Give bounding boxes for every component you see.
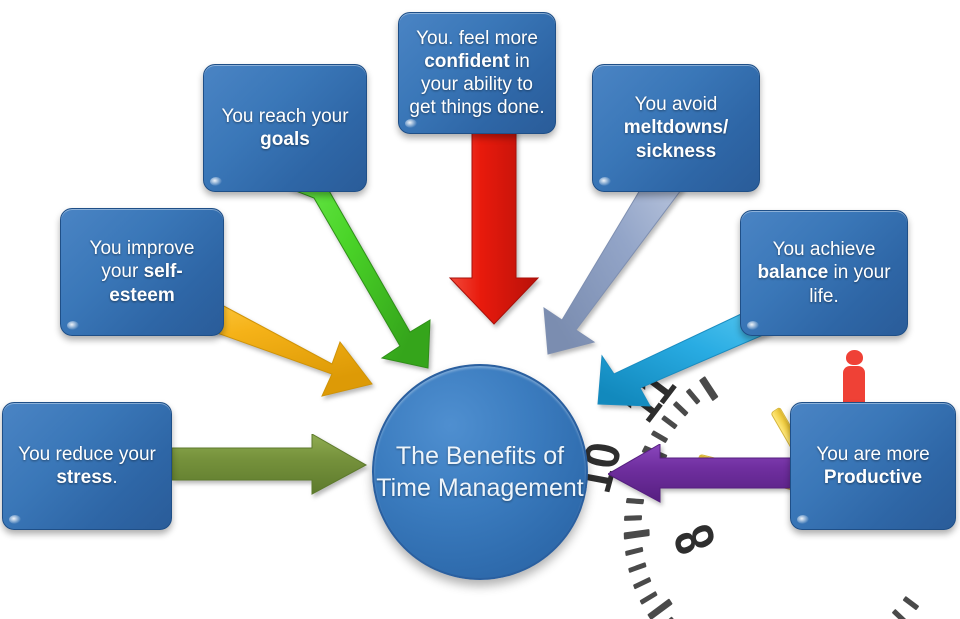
box-balance-line-3: life. (757, 285, 890, 308)
box-meltdowns-line-2: meltdowns/ (624, 116, 729, 139)
benefit-box-productive[interactable]: You are more Productive (790, 402, 956, 530)
figure-head (846, 350, 863, 365)
box-stress-line-2-rest: . (112, 467, 117, 488)
clock-tick-minor (903, 596, 920, 610)
box-balance-line-2-rest: in your (828, 262, 890, 283)
box-meltdowns-line-3: sickness (624, 140, 729, 163)
clock-tick-major (647, 598, 673, 619)
center-hub-circle[interactable]: The Benefits of Time Management (372, 364, 588, 580)
diagram-canvas: 10 11 8 (0, 0, 960, 619)
clock-tick-minor (651, 430, 669, 443)
box-stress-line-1: You reduce your (18, 443, 156, 466)
box-balance-line-2: balance in your (757, 261, 890, 284)
box-productive-line-2: Productive (816, 466, 929, 489)
box-meltdowns-line-1: You avoid (624, 93, 729, 116)
clock-tick-minor (628, 562, 647, 573)
benefit-box-confident[interactable]: You. feel more confident in your ability… (398, 12, 556, 134)
box-meltdowns-emphasis-1: meltdowns/ (624, 117, 729, 138)
box-productive-emphasis: Productive (824, 467, 922, 488)
box-self-esteem-line-2-pre: your (101, 261, 143, 282)
box-confident-line-4: get things done. (409, 96, 544, 119)
box-meltdowns-emphasis-2: sickness (636, 141, 716, 162)
box-self-esteem-line-1: You improve (71, 237, 213, 260)
clock-tick-minor (624, 515, 642, 521)
clock-tick-major (624, 529, 650, 540)
center-line-3: Management (438, 474, 584, 502)
clock-tick-minor (661, 415, 678, 429)
box-productive-line-1: You are more (816, 443, 929, 466)
box-self-esteem-line-2: your self-esteem (71, 260, 213, 306)
box-goals-line-2: goals (221, 128, 348, 151)
box-balance-line-1: You achieve (757, 238, 890, 261)
clock-tick-minor (892, 609, 908, 619)
center-line-1: The Benefits (396, 442, 536, 470)
clock-tick-minor (633, 577, 651, 590)
box-confident-line-1: You. feel more (409, 27, 544, 50)
box-stress-line-2: stress. (18, 466, 156, 489)
clock-tick-minor (625, 547, 643, 556)
box-confident-line-2: confident in (409, 50, 544, 73)
box-balance-emphasis: balance (757, 262, 828, 283)
box-confident-line-2-rest: in (510, 51, 530, 72)
benefit-box-stress[interactable]: You reduce your stress. (2, 402, 172, 530)
benefit-box-balance[interactable]: You achieve balance in your life. (740, 210, 908, 336)
box-confident-emphasis: confident (424, 51, 510, 72)
purple-arrow-productive (608, 444, 800, 504)
box-goals-line-1: You reach your (221, 105, 348, 128)
benefit-box-goals[interactable]: You reach your goals (203, 64, 367, 192)
clock-tick-minor (640, 591, 658, 605)
box-stress-emphasis: stress (56, 467, 112, 488)
box-goals-emphasis: goals (260, 129, 310, 150)
benefit-box-self-esteem[interactable]: You improve your self-esteem (60, 208, 224, 336)
olive-arrow-stress (172, 434, 368, 496)
box-confident-line-3: your ability to (409, 73, 544, 96)
benefit-box-meltdowns[interactable]: You avoid meltdowns/ sickness (592, 64, 760, 192)
clock-number-8: 8 (663, 516, 729, 563)
